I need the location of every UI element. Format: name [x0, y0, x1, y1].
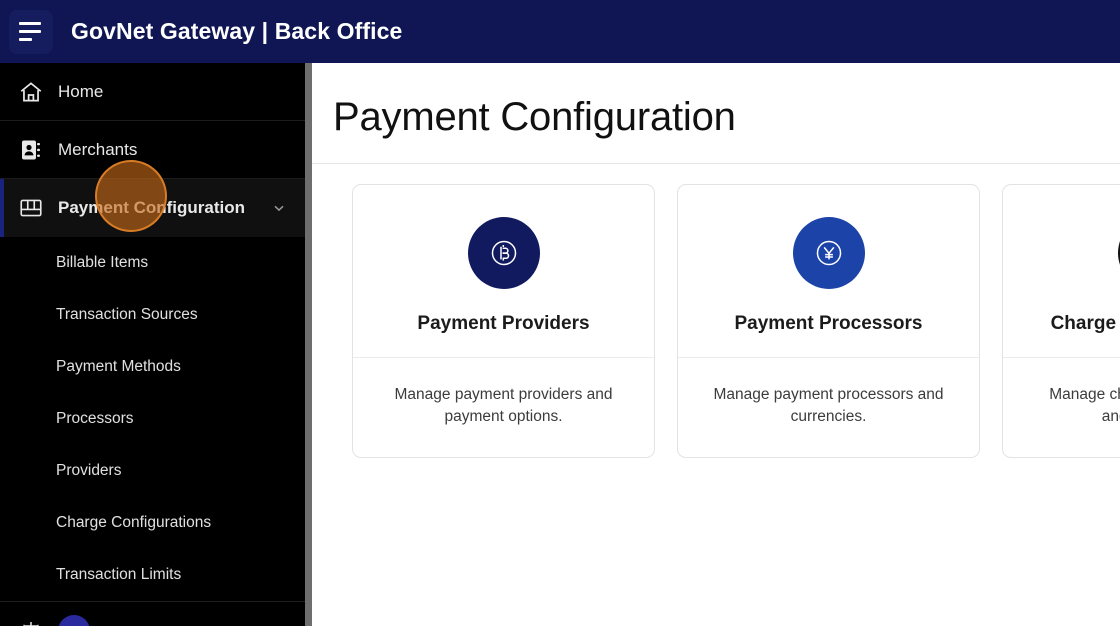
sidebar-subitem-charge-configurations-label: Charge Configurations [56, 514, 211, 532]
sidebar-subitem-processors[interactable]: Processors [0, 393, 305, 445]
yen-currency-circle-icon [793, 217, 865, 289]
active-accent-bar [0, 179, 4, 237]
hamburger-bar-3 [19, 38, 32, 41]
address-book-icon [16, 135, 46, 165]
grid-table-icon [16, 193, 46, 223]
partial-item-badge [58, 615, 90, 626]
sidebar-scrollbar[interactable] [305, 63, 312, 626]
chevron-down-icon[interactable] [271, 200, 287, 216]
home-icon [16, 77, 46, 107]
card-payment-processors[interactable]: Payment Processors Manage payment proces… [677, 184, 980, 458]
baht-currency-circle-icon [468, 217, 540, 289]
sidebar-subitem-billable-items-label: Billable Items [56, 254, 148, 272]
card-charge-configurations[interactable]: Charge Configurations Manage charge conf… [1002, 184, 1120, 458]
card-payment-providers-top: Payment Providers [353, 185, 654, 357]
balance-scale-icon [16, 616, 46, 626]
sidebar-item-payment-configuration[interactable]: Payment Configuration [0, 179, 305, 237]
sidebar-subitem-charge-configurations[interactable]: Charge Configurations [0, 497, 305, 549]
hamburger-icon[interactable] [9, 10, 53, 54]
sidebar-item-payment-configuration-label: Payment Configuration [58, 198, 245, 218]
card-charge-configurations-title: Charge Configurations [1051, 313, 1120, 335]
sidebar-subitem-transaction-sources-label: Transaction Sources [56, 306, 198, 324]
page-title: Payment Configuration [312, 63, 1120, 141]
sidebar-subitem-transaction-limits[interactable]: Transaction Limits [0, 549, 305, 601]
sidebar-subitem-transaction-limits-label: Transaction Limits [56, 566, 181, 584]
app-title: GovNet Gateway | Back Office [71, 18, 402, 45]
sidebar-item-merchants-label: Merchants [58, 140, 137, 160]
sidebar-subitem-processors-label: Processors [56, 410, 134, 428]
hamburger-bar-1 [19, 22, 41, 25]
card-payment-processors-description: Manage payment processors and currencies… [678, 358, 979, 457]
main-content: Payment Configuration [312, 63, 1120, 626]
card-payment-providers[interactable]: Payment Providers Manage payment provide… [352, 184, 655, 458]
hamburger-bar-2 [19, 30, 41, 33]
top-header-bar: GovNet Gateway | Back Office [0, 0, 1120, 63]
app-root: GovNet Gateway | Back Office Home [0, 0, 1120, 626]
sidebar-item-home[interactable]: Home [0, 63, 305, 121]
sidebar-subitem-transaction-sources[interactable]: Transaction Sources [0, 289, 305, 341]
card-payment-processors-top: Payment Processors [678, 185, 979, 357]
card-row: Payment Providers Manage payment provide… [312, 164, 1120, 458]
sidebar-subitem-payment-methods-label: Payment Methods [56, 358, 181, 376]
sidebar-subitem-billable-items[interactable]: Billable Items [0, 237, 305, 289]
card-payment-providers-title: Payment Providers [417, 313, 589, 335]
card-payment-processors-title: Payment Processors [735, 313, 923, 335]
sidebar-item-home-label: Home [58, 82, 103, 102]
sidebar-scroll-area: Home Merchants [0, 63, 305, 626]
sidebar-item-partial-bottom[interactable] [0, 601, 305, 626]
sidebar: Home Merchants [0, 63, 305, 626]
card-charge-configurations-top: Charge Configurations [1003, 185, 1120, 357]
card-payment-providers-description: Manage payment providers and payment opt… [353, 358, 654, 457]
sidebar-item-merchants[interactable]: Merchants [0, 121, 305, 179]
sidebar-subitem-payment-methods[interactable]: Payment Methods [0, 341, 305, 393]
sidebar-subitem-providers[interactable]: Providers [0, 445, 305, 497]
partial-chevron-down-icon[interactable] [271, 623, 287, 626]
sidebar-submenu-payment-configuration: Billable Items Transaction Sources Payme… [0, 237, 305, 601]
sidebar-subitem-providers-label: Providers [56, 462, 121, 480]
card-charge-configurations-description: Manage charge configurations and their r… [1003, 358, 1120, 457]
